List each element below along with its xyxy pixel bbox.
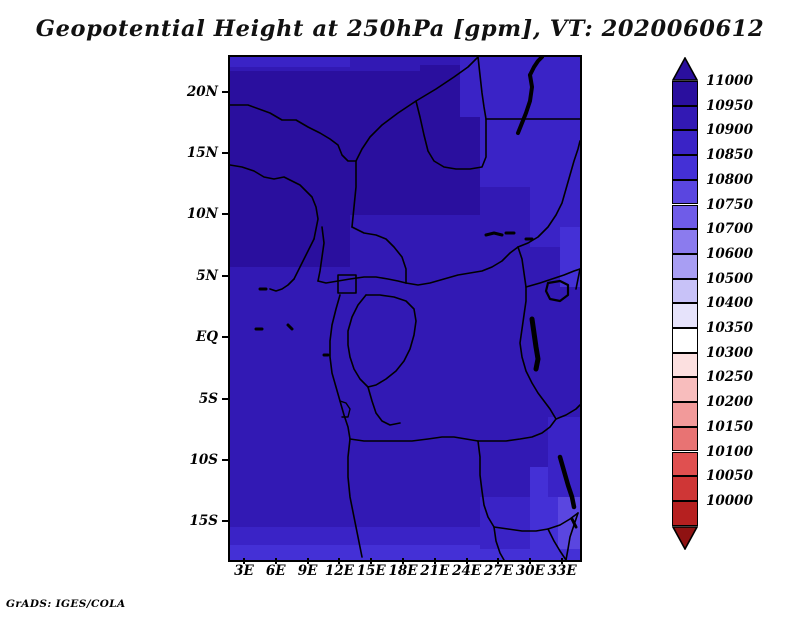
- colorbar-tick-label: 10050: [706, 468, 796, 484]
- colorbar-legend[interactable]: 1100010950109001085010800107501070010600…: [666, 55, 796, 560]
- grads-credit-label: GrADS: IGES/COLA: [6, 598, 126, 610]
- colorbar-tick-label: 10500: [706, 271, 796, 287]
- colorbar-band[interactable]: [672, 254, 698, 279]
- colorbar-band[interactable]: [672, 427, 698, 452]
- colorbar-band[interactable]: [672, 205, 698, 230]
- y-axis-tick: [222, 459, 228, 461]
- y-axis-tick: [222, 91, 228, 93]
- colorbar-band[interactable]: [672, 81, 698, 106]
- colorbar-band[interactable]: [672, 377, 698, 402]
- y-axis-tick-label: 15N: [158, 145, 218, 161]
- colorbar-band[interactable]: [672, 501, 698, 526]
- y-axis-tick: [222, 336, 228, 338]
- colorbar-tick-label: 10000: [706, 493, 796, 509]
- y-axis-tick: [222, 398, 228, 400]
- colorbar-band[interactable]: [672, 155, 698, 180]
- country-borders-overlay: [230, 57, 580, 560]
- y-axis-tick-label: 10S: [158, 452, 218, 468]
- y-axis-tick: [222, 152, 228, 154]
- colorbar-band[interactable]: [672, 476, 698, 501]
- colorbar-tick-label: 10250: [706, 369, 796, 385]
- y-axis-tick: [222, 275, 228, 277]
- colorbar-tick-label: 10150: [706, 419, 796, 435]
- y-axis-tick-label: 10N: [158, 206, 218, 222]
- colorbar-tick-label: 10700: [706, 221, 796, 237]
- colorbar-tick-label: 10200: [706, 394, 796, 410]
- colorbar-band[interactable]: [672, 130, 698, 155]
- colorbar-tick-label: 10400: [706, 295, 796, 311]
- colorbar-band[interactable]: [672, 180, 698, 205]
- colorbar-band[interactable]: [672, 353, 698, 378]
- y-axis-tick-label: 15S: [158, 513, 218, 529]
- map-plot-area[interactable]: [228, 55, 582, 562]
- y-axis-tick-label: 5N: [158, 268, 218, 284]
- colorbar-tick-label: 10900: [706, 122, 796, 138]
- colorbar-band[interactable]: [672, 452, 698, 477]
- colorbar-tick-label: 10600: [706, 246, 796, 262]
- y-axis-tick-label: EQ: [158, 329, 218, 345]
- colorbar-band[interactable]: [672, 303, 698, 328]
- colorbar-tick-label: 11000: [706, 73, 796, 89]
- x-axis-tick-label: 33E: [542, 563, 582, 579]
- colorbar-band[interactable]: [672, 106, 698, 131]
- colorbar-tick-label: 10750: [706, 197, 796, 213]
- colorbar-tick-label: 10100: [706, 444, 796, 460]
- colorbar-tick-label: 10350: [706, 320, 796, 336]
- colorbar-tick-label: 10300: [706, 345, 796, 361]
- y-axis-tick-label: 5S: [158, 391, 218, 407]
- page-title: Geopotential Height at 250hPa [gpm], VT:…: [0, 16, 800, 42]
- colorbar-tick-label: 10950: [706, 98, 796, 114]
- colorbar-extend-up-arrow-icon: [672, 57, 698, 81]
- colorbar-tick-label: 10800: [706, 172, 796, 188]
- colorbar-band[interactable]: [672, 229, 698, 254]
- colorbar-band[interactable]: [672, 328, 698, 353]
- y-axis-tick: [222, 213, 228, 215]
- colorbar-extend-down-arrow-icon: [672, 526, 698, 550]
- y-axis-tick-label: 20N: [158, 84, 218, 100]
- y-axis-tick: [222, 520, 228, 522]
- colorbar-band[interactable]: [672, 402, 698, 427]
- colorbar-tick-label: 10850: [706, 147, 796, 163]
- colorbar-band[interactable]: [672, 279, 698, 304]
